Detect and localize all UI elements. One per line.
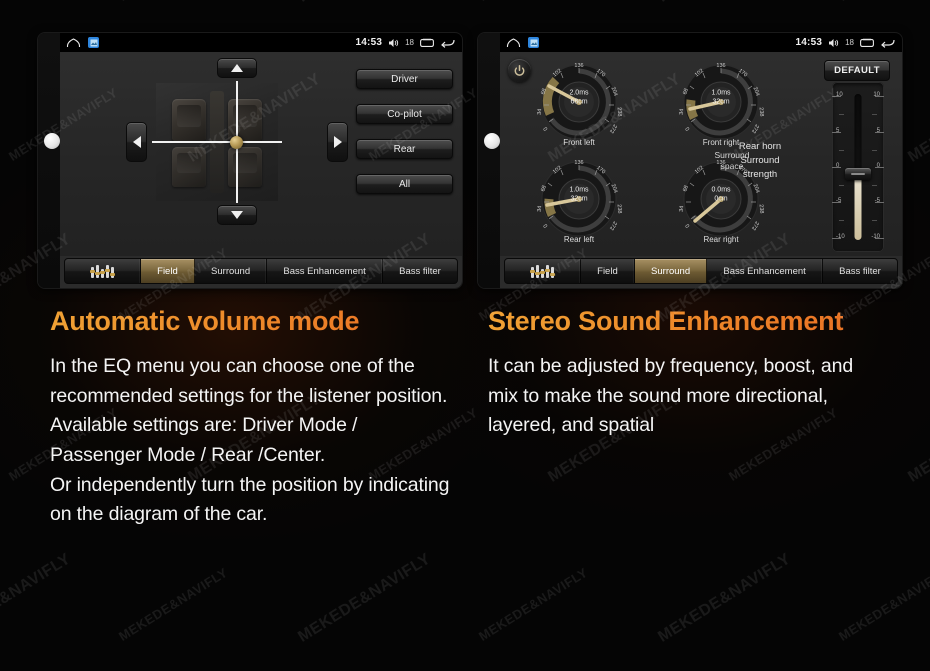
fader-thumb[interactable] <box>845 168 871 180</box>
fader-fill <box>855 178 862 240</box>
equalizer-icon <box>531 265 554 278</box>
preset-copilot-button[interactable]: Co-pilot <box>356 104 453 124</box>
svg-text:136: 136 <box>716 63 725 69</box>
preset-rear-button[interactable]: Rear <box>356 139 453 159</box>
tab-field[interactable]: Field <box>141 259 195 283</box>
triangle-left-icon <box>133 136 141 148</box>
fader-tick-10-left: 10 <box>836 92 843 98</box>
svg-text:0: 0 <box>543 126 550 132</box>
seat-rear-left <box>172 147 206 187</box>
watermark-text: MEKEDE&NAVIFLY <box>295 550 434 646</box>
watermark-text: MEKEDE&NAVIFLY <box>116 565 230 644</box>
gallery-app-icon[interactable] <box>88 37 99 48</box>
body-stereo-sound-enhancement: It can be adjusted by frequency, boost, … <box>488 352 888 441</box>
status-bar-left: 14:53 18 <box>60 33 462 52</box>
heading-stereo-sound-enhancement: Stereo Sound Enhancement <box>488 306 888 336</box>
recents-icon[interactable] <box>860 38 874 48</box>
surround-strength-caption: Rear horn Surround strength <box>717 140 803 181</box>
physical-knob-left[interactable] <box>44 133 60 149</box>
svg-text:0: 0 <box>685 223 692 229</box>
tab-field[interactable]: Field <box>581 259 635 283</box>
caption-line3: strength <box>743 169 777 180</box>
volume-level: 18 <box>405 38 414 47</box>
dial-front-left[interactable]: 136 102 68 170 204 238 272 34 0 <box>536 62 622 138</box>
svg-text:272: 272 <box>608 123 618 134</box>
svg-text:34: 34 <box>537 206 544 213</box>
knob-label-front-left: Front left <box>520 138 638 147</box>
field-panel: Driver Co-pilot Rear All <box>60 52 462 256</box>
tab-bass-filter[interactable]: Bass filter <box>823 259 897 283</box>
fader-tick-minus10-right: -10 <box>871 234 880 240</box>
home-icon[interactable] <box>506 38 521 48</box>
svg-text:34: 34 <box>537 109 544 116</box>
svg-text:0: 0 <box>543 223 550 229</box>
watermark-text: MEKEDE&NAVIFLY <box>655 0 794 7</box>
svg-text:238: 238 <box>616 204 622 214</box>
watermark-text: MEKEDE&NAVIFLY <box>905 70 930 166</box>
status-time: 14:53 <box>796 37 823 48</box>
knob-front-left[interactable]: 136 102 68 170 204 238 272 34 0 <box>520 60 638 155</box>
home-icon[interactable] <box>66 38 81 48</box>
equalizer-icon <box>91 265 114 278</box>
back-icon[interactable] <box>880 38 895 48</box>
watermark-text: MEKEDE&NAVIFLY <box>836 0 930 4</box>
fader-tick-5-left: 5 <box>836 128 839 134</box>
knob-rear-left[interactable]: 136 102 68 170 204 238 272 34 0 <box>520 157 638 252</box>
status-bar-right: 14:53 18 <box>500 33 902 52</box>
tab-bass-enhancement[interactable]: Bass Enhancement <box>707 259 823 283</box>
seat-front-right <box>228 99 262 141</box>
status-time: 14:53 <box>356 37 383 48</box>
svg-text:272: 272 <box>608 220 618 231</box>
watermark-text: MEKEDE&NAVIFLY <box>0 0 74 7</box>
gallery-app-icon[interactable] <box>528 37 539 48</box>
triangle-right-icon <box>334 136 342 148</box>
field-move-left-button[interactable] <box>126 122 147 162</box>
tab-equalizer[interactable] <box>505 259 581 283</box>
default-button[interactable]: DEFAULT <box>824 60 890 81</box>
fader-tick-10-right: 10 <box>873 92 880 98</box>
screen-right: 14:53 18 <box>500 33 902 288</box>
seat-rear-right <box>228 147 262 187</box>
svg-text:238: 238 <box>616 107 622 117</box>
field-move-right-button[interactable] <box>327 122 348 162</box>
caption-line1: Rear horn <box>739 141 781 152</box>
seat-front-left <box>172 99 206 141</box>
fader-tick-minus10-left: -10 <box>836 234 845 240</box>
triangle-down-icon <box>231 211 243 219</box>
field-move-up-button[interactable] <box>217 58 257 78</box>
watermark-text: MEKEDE&NAVIFLY <box>476 565 590 644</box>
preset-button-list: Driver Co-pilot Rear All <box>356 69 453 209</box>
svg-text:136: 136 <box>574 63 583 69</box>
preset-all-button[interactable]: All <box>356 174 453 194</box>
watermark-text: MEKEDE&NAVIFLY <box>655 550 794 646</box>
fader-tick-5-right: 5 <box>877 128 880 134</box>
tab-bar-right: Field Surround Bass Enhancement Bass fil… <box>504 258 898 284</box>
caption-line2: Surround <box>740 155 779 166</box>
surround-strength-slider[interactable]: 1010 55 00 -5-5 -10-10 <box>832 82 884 252</box>
physical-knob-right[interactable] <box>484 133 500 149</box>
poster-root: 14:53 18 <box>0 0 930 671</box>
volume-icon[interactable] <box>828 38 839 48</box>
knob-label-rear-left: Rear left <box>520 235 638 244</box>
watermark-text: MEKEDE&NAVIFLY <box>295 0 434 7</box>
screen-left: 14:53 18 <box>60 33 462 288</box>
crosshair-horizontal <box>152 141 282 143</box>
tab-bass-enhancement[interactable]: Bass Enhancement <box>267 259 383 283</box>
tab-surround[interactable]: Surround <box>635 259 707 283</box>
preset-driver-button[interactable]: Driver <box>356 69 453 89</box>
fader-tick-minus5-left: -5 <box>836 198 841 204</box>
surround-strength-control: Rear horn Surround strength 1010 55 00 -… <box>717 82 892 257</box>
surround-panel: DEFAULT <box>500 52 902 256</box>
svg-text:34: 34 <box>679 206 686 213</box>
text-column-left: Automatic volume mode In the EQ menu you… <box>50 306 450 530</box>
tab-bass-filter[interactable]: Bass filter <box>383 259 457 283</box>
tab-bar-left: Field Surround Bass Enhancement Bass fil… <box>64 258 458 284</box>
head-unit-left: 14:53 18 <box>38 33 462 288</box>
listener-position-handle[interactable] <box>230 136 243 149</box>
recents-icon[interactable] <box>420 38 434 48</box>
tab-equalizer[interactable] <box>65 259 141 283</box>
dial-rear-left[interactable]: 136 102 68 170 204 238 272 34 0 <box>536 159 622 235</box>
field-move-down-button[interactable] <box>217 205 257 225</box>
text-column-right: Stereo Sound Enhancement It can be adjus… <box>488 306 888 441</box>
watermark-text: MEKEDE&NAVIFLY <box>905 390 930 486</box>
body-automatic-volume-mode: In the EQ menu you can choose one of the… <box>50 352 450 530</box>
watermark-text: MEKEDE&NAVIFLY <box>836 565 930 644</box>
volume-icon[interactable] <box>388 38 399 48</box>
svg-text:0: 0 <box>685 126 692 132</box>
head-unit-right: 14:53 18 <box>478 33 902 288</box>
fader-tick-minus5-right: -5 <box>875 198 880 204</box>
volume-level: 18 <box>845 38 854 47</box>
svg-text:136: 136 <box>574 160 583 166</box>
heading-automatic-volume-mode: Automatic volume mode <box>50 306 450 336</box>
triangle-up-icon <box>231 64 243 72</box>
fader-tick-0-left: 0 <box>836 163 839 169</box>
watermark-text: MEKEDE&NAVIFLY <box>0 550 74 646</box>
svg-text:34: 34 <box>679 109 686 116</box>
fader-track <box>855 94 862 240</box>
fader-tick-0-right: 0 <box>877 163 880 169</box>
back-icon[interactable] <box>440 38 455 48</box>
watermark-text: MEKEDE&NAVIFLY <box>476 0 590 4</box>
tab-surround[interactable]: Surround <box>195 259 267 283</box>
watermark-text: MEKEDE&NAVIFLY <box>116 0 230 4</box>
